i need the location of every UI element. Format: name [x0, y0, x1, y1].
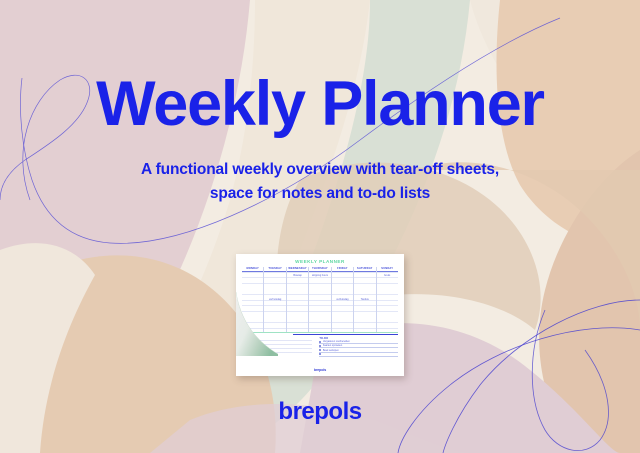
planner-day-column: TUESDAY verhuisdag: [264, 267, 286, 332]
planner-day-column: SUNDAY bouts: [377, 267, 398, 332]
planner-day-body: verhuisdag: [264, 272, 285, 332]
planner-day-header: WEDNESDAY: [287, 267, 308, 272]
planner-day-entry: Bosoap: [287, 274, 308, 277]
planner-day-grid: MONDAY TUESDAY verhuisdag WEDNESDAY Boso…: [242, 267, 398, 333]
planner-day-body: bouts: [377, 272, 398, 332]
brand-logo: brepols: [0, 398, 640, 426]
subtitle-line-2: space for notes and to-do lists: [210, 185, 430, 202]
page-title: Weekly Planner: [96, 72, 544, 136]
planner-day-header: SATURDAY: [354, 267, 375, 272]
page-subtitle: A functional weekly overview with tear-o…: [141, 158, 499, 205]
planner-day-entry: bouts: [377, 274, 398, 277]
planner-day-column: WEDNESDAY Bosoap: [287, 267, 309, 332]
planner-product-image: WEEKLY PLANNER MONDAY TUESDAY verhuisdag…: [236, 254, 404, 376]
checkbox-icon: [319, 349, 321, 351]
planner-bottom-section: NOTES Selecteer aktual TO-DO Vergaderen …: [242, 333, 398, 367]
planner-day-entry: verhuisdag: [332, 298, 353, 301]
planner-day-body: skipping hours: [309, 272, 330, 332]
planner-day-header: FRIDAY: [332, 267, 353, 272]
planner-day-header: SUNDAY: [377, 267, 398, 272]
planner-card: WEEKLY PLANNER MONDAY TUESDAY verhuisdag…: [236, 254, 404, 376]
planner-todo-label: TO-DO: [319, 337, 398, 340]
planner-day-entry: skipping hours: [309, 274, 330, 277]
planner-day-body: Tandav: [354, 272, 375, 332]
planner-day-column: SATURDAY Tandav: [354, 267, 376, 332]
planner-todo-section: TO-DO Vergaderen voorbereiden Kaarten op…: [315, 335, 398, 367]
planner-day-header: MONDAY: [242, 267, 263, 272]
planner-todo-item: [319, 353, 398, 357]
poster-content: Weekly Planner A functional weekly overv…: [0, 0, 640, 453]
planner-day-entry: Tandav: [354, 298, 375, 301]
planner-day-column: THURSDAY skipping hours: [309, 267, 331, 332]
planner-day-column: MONDAY: [242, 267, 264, 332]
checkbox-icon: [319, 341, 321, 343]
planner-day-body: [242, 272, 263, 332]
subtitle-line-1: A functional weekly overview with tear-o…: [141, 161, 499, 178]
planner-day-column: FRIDAY verhuisdag: [332, 267, 354, 332]
planner-notes-label: NOTES: [242, 337, 312, 340]
planner-title: WEEKLY PLANNER: [242, 259, 398, 264]
planner-notes-lines: Selecteer aktual: [242, 340, 312, 360]
planner-day-body: verhuisdag: [332, 272, 353, 332]
poster-canvas: Weekly Planner A functional weekly overv…: [0, 0, 640, 453]
planner-notes-entry: Selecteer aktual: [242, 340, 259, 343]
planner-todo-text: Vergaderen voorbereiden: [323, 340, 379, 343]
planner-brand-logo: brepols: [242, 367, 398, 373]
planner-todo-text: Kaarten opzoeken: [323, 344, 379, 347]
planner-notes-section: NOTES Selecteer aktual: [242, 335, 315, 367]
planner-day-header: THURSDAY: [309, 267, 330, 272]
planner-day-entry: verhuisdag: [264, 298, 285, 301]
planner-todo-text: Boek verkopen: [323, 349, 379, 352]
planner-day-body: Bosoap: [287, 272, 308, 332]
checkbox-icon: [319, 353, 321, 355]
planner-day-header: TUESDAY: [264, 267, 285, 272]
checkbox-checked-icon: [319, 345, 321, 347]
